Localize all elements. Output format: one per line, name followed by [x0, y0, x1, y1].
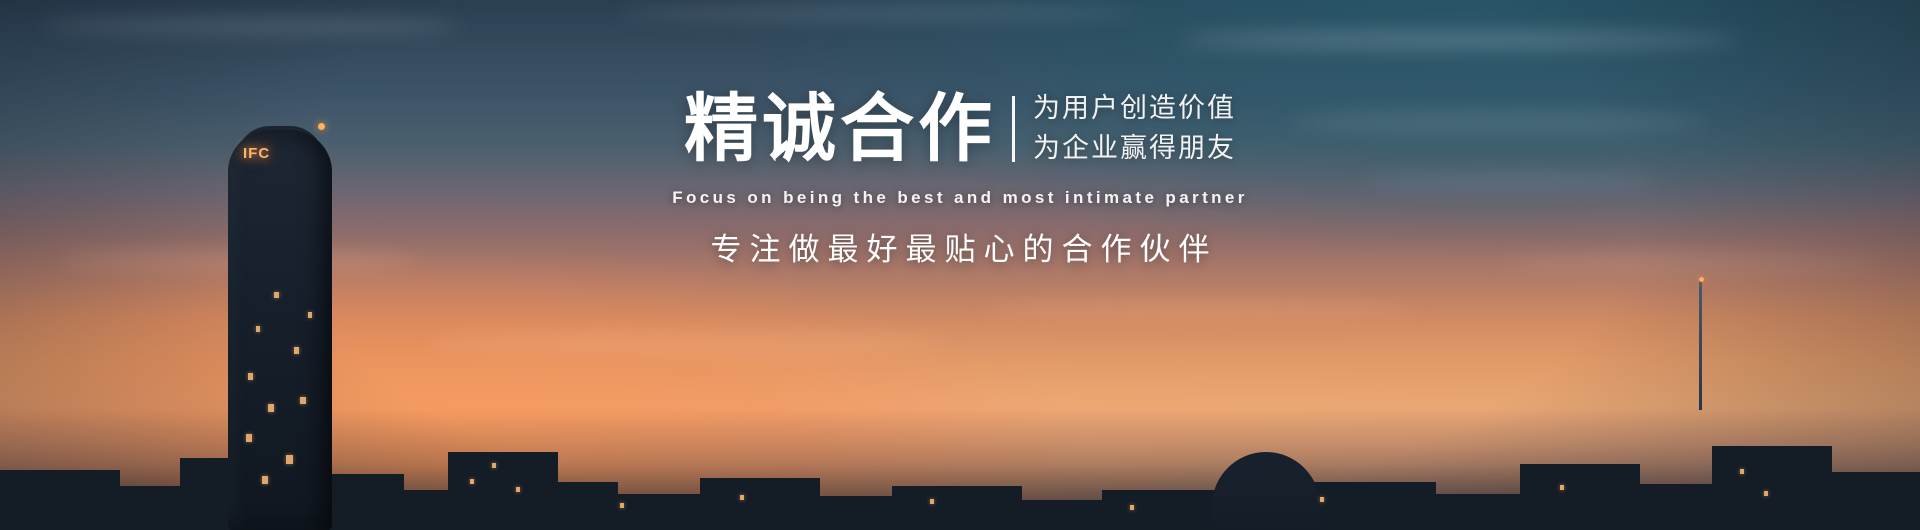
banner-text-block: 精诚合作 为用户创造价值 为企业赢得朋友 Focus on being the … [0, 92, 1920, 269]
window-light [930, 499, 934, 504]
window-light [740, 495, 744, 500]
window-light [1130, 505, 1134, 510]
subtitle-line-1: 为用户创造价值 [1033, 94, 1236, 124]
window-light [308, 312, 312, 318]
subtitle-line-2: 为企业赢得朋友 [1033, 134, 1236, 164]
window-light [516, 487, 520, 492]
window-light [268, 404, 274, 412]
window-light [262, 476, 268, 484]
spire-beacon-light [1699, 277, 1704, 282]
window-light [248, 373, 253, 380]
window-light [246, 434, 252, 442]
banner-headline: 精诚合作 [684, 92, 996, 166]
window-light [300, 397, 306, 404]
window-light [470, 479, 474, 484]
window-light [274, 292, 279, 298]
window-light [620, 503, 624, 508]
window-light [1320, 497, 1324, 502]
window-light [1740, 469, 1744, 474]
hero-banner: IFC 精诚合作 为用户创造价值 为企业赢得朋友 Focus on being … [0, 0, 1920, 530]
window-light [286, 455, 293, 464]
window-light [294, 347, 299, 354]
window-light [1764, 491, 1768, 496]
subtitle-column: 为用户创造价值 为企业赢得朋友 [1033, 92, 1236, 166]
window-light [1560, 485, 1564, 490]
headline-row: 精诚合作 为用户创造价值 为企业赢得朋友 [684, 92, 1236, 166]
english-tagline: Focus on being the best and most intimat… [672, 188, 1248, 208]
window-light [256, 326, 260, 332]
vertical-divider [1012, 96, 1015, 162]
antenna-spire [1699, 280, 1702, 410]
chinese-tagline: 专注做最好最贴心的合作伙伴 [703, 224, 1218, 269]
window-light [492, 463, 496, 468]
